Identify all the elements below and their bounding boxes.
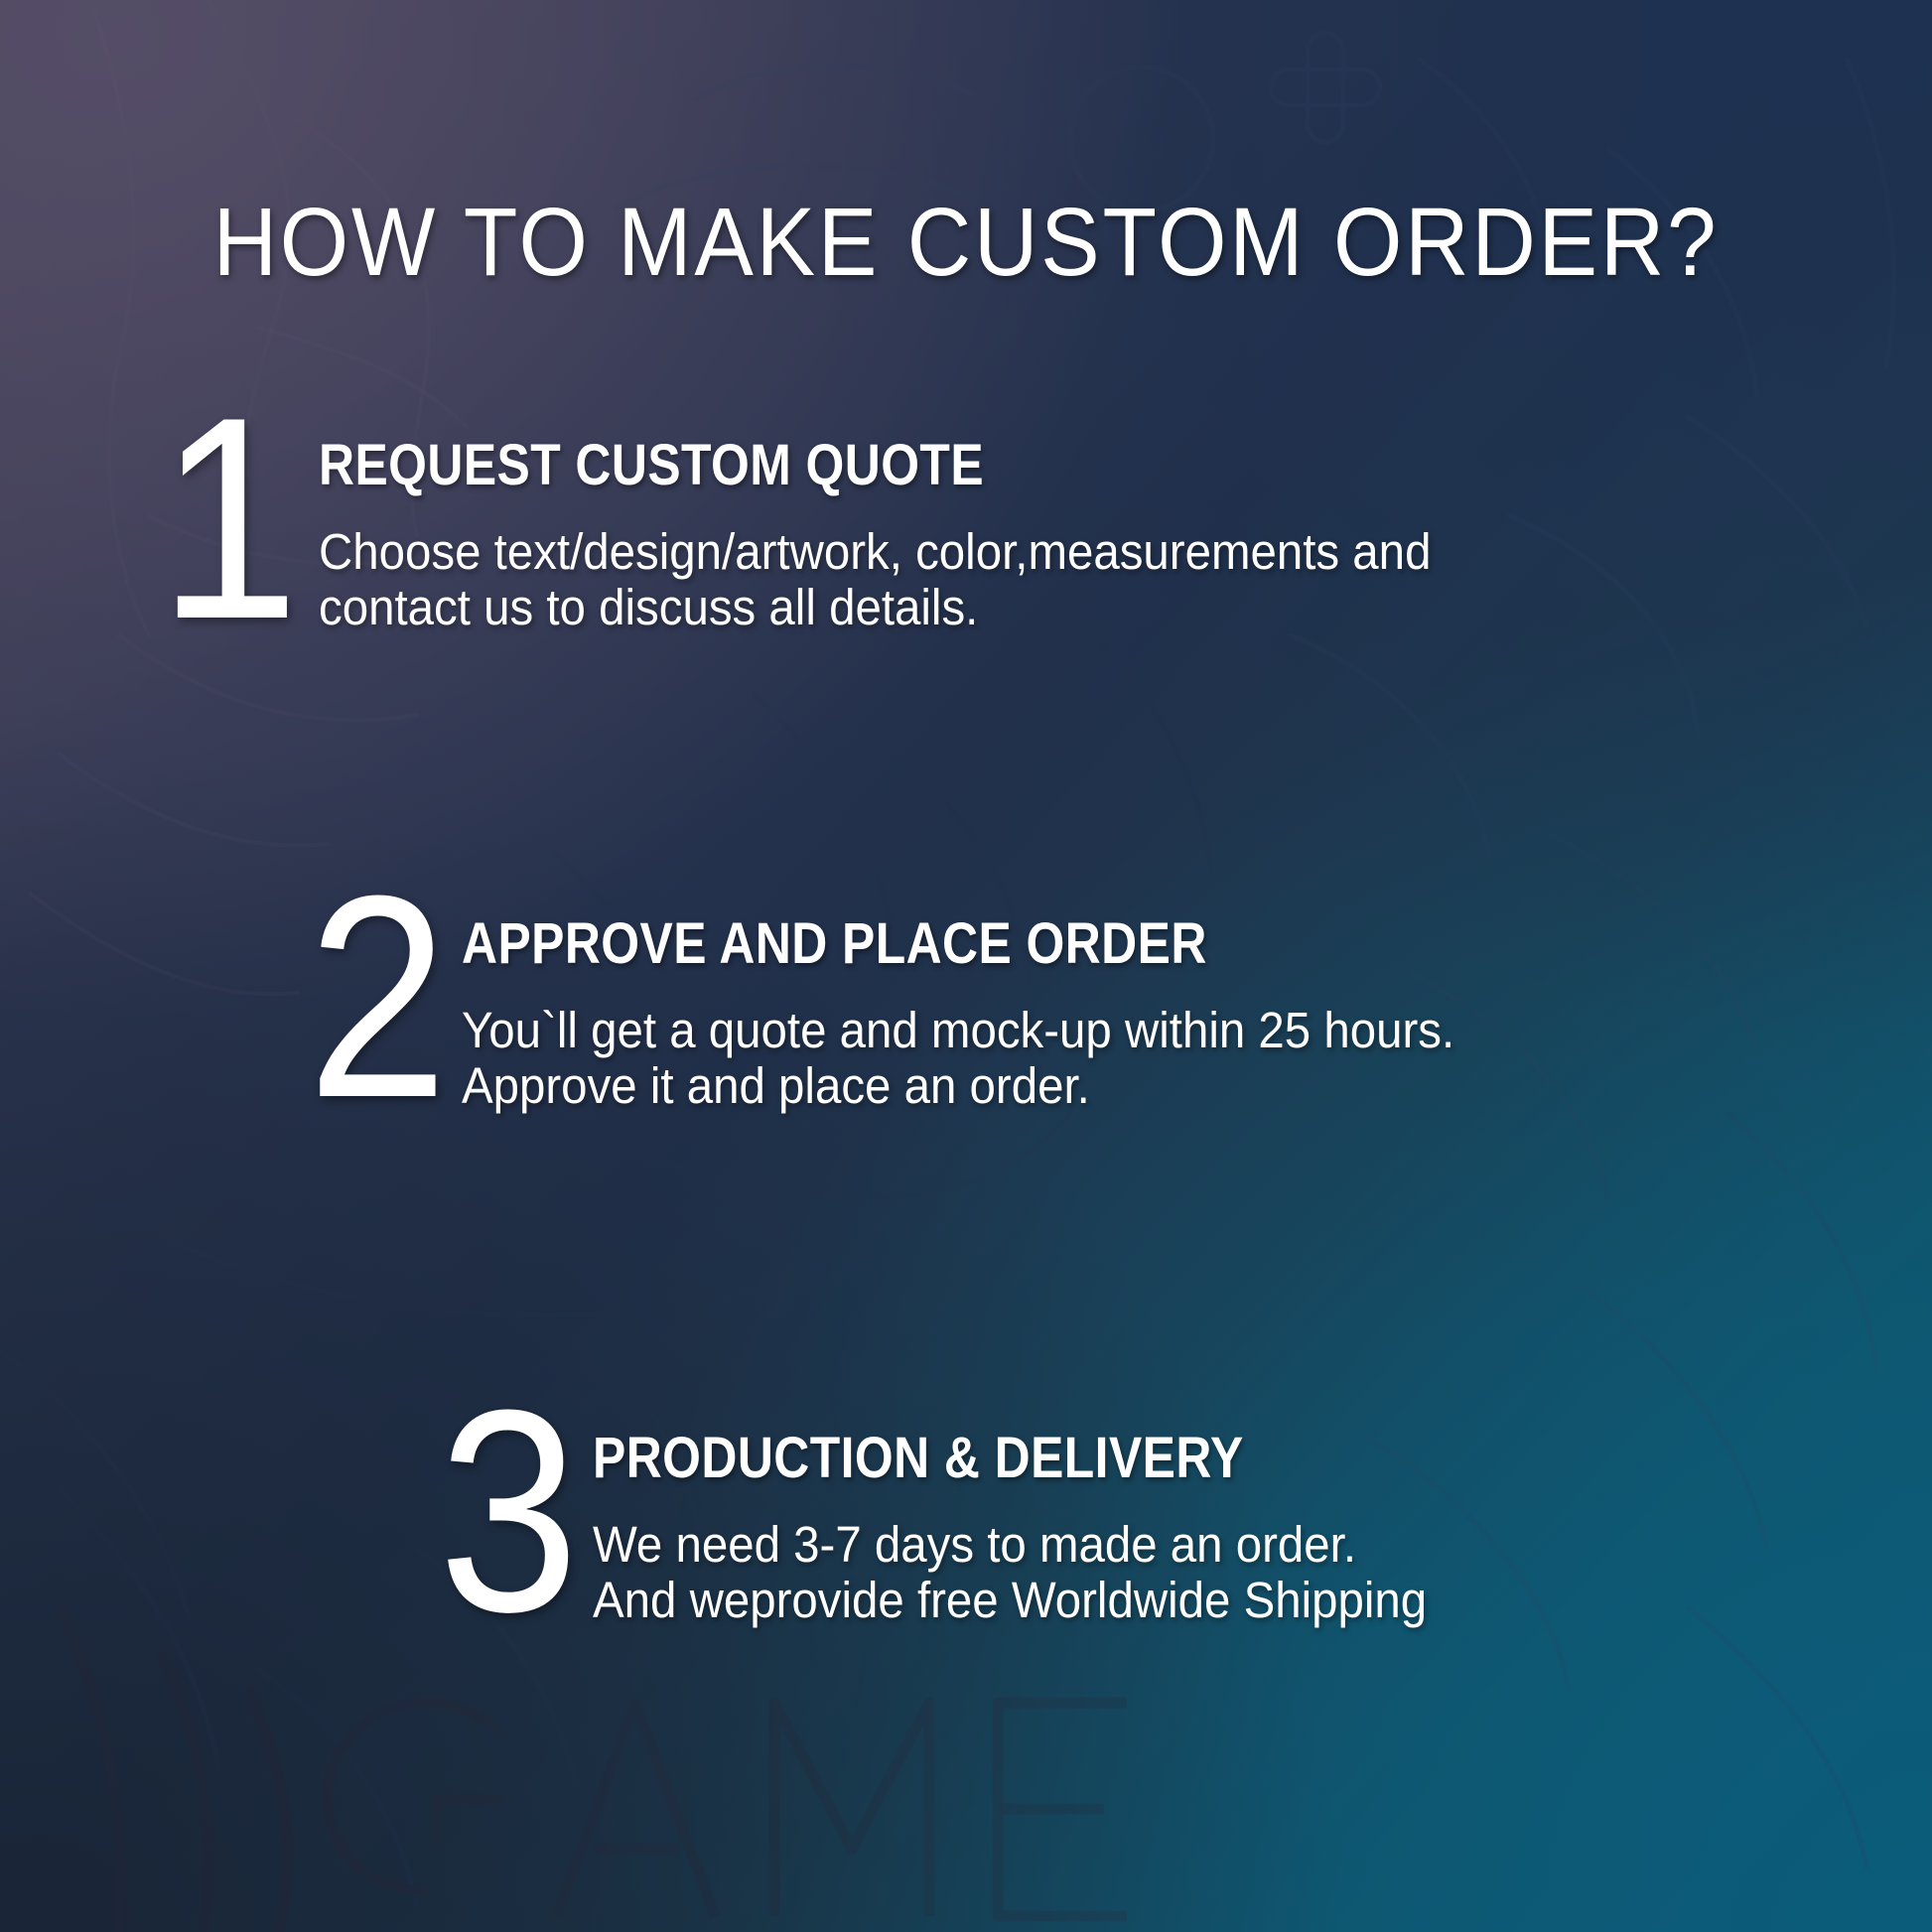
step-description-2: You`ll get a quote and mock-up within 25… [462,1003,1454,1114]
step-item-1: 1 REQUEST CUSTOM QUOTE Choose text/desig… [149,415,1515,635]
step-description-1-line-2: contact us to discuss all details. [319,580,1431,635]
poster-content: HOW TO MAKE CUSTOM ORDER? 1 REQUEST CUST… [0,0,1932,1932]
step-heading-3: PRODUCTION & DELIVERY [593,1430,1364,1487]
step-description-3: We need 3-7 days to made an order. And w… [593,1517,1427,1628]
step-number-1: 1 [158,415,295,622]
step-description-1-line-1: Choose text/design/artwork, color,measur… [319,524,1431,580]
step-heading-1: REQUEST CUSTOM QUOTE [319,437,1347,494]
step-item-3: 3 PRODUCTION & DELIVERY We need 3-7 days… [429,1408,1490,1628]
step-body-1: REQUEST CUSTOM QUOTE Choose text/design/… [319,415,1515,635]
step-heading-2: APPROVE AND PLACE ORDER [462,915,1380,973]
step-description-3-line-1: We need 3-7 days to made an order. [593,1517,1427,1573]
step-item-2: 2 APPROVE AND PLACE ORDER You`ll get a q… [298,894,1530,1114]
step-body-2: APPROVE AND PLACE ORDER You`ll get a quo… [462,894,1529,1114]
step-description-1: Choose text/design/artwork, color,measur… [319,524,1431,635]
poster-canvas: HOW TO MAKE CUSTOM ORDER? 1 REQUEST CUST… [0,0,1932,1932]
step-body-3: PRODUCTION & DELIVERY We need 3-7 days t… [593,1408,1489,1628]
step-description-2-line-2: Approve it and place an order. [462,1058,1454,1114]
step-number-2: 2 [307,894,444,1101]
step-number-3: 3 [438,1408,575,1615]
step-description-2-line-1: You`ll get a quote and mock-up within 25… [462,1003,1454,1058]
step-description-3-line-2: And weprovide free Worldwide Shipping [593,1573,1427,1628]
page-title: HOW TO MAKE CUSTOM ORDER? [77,192,1855,293]
